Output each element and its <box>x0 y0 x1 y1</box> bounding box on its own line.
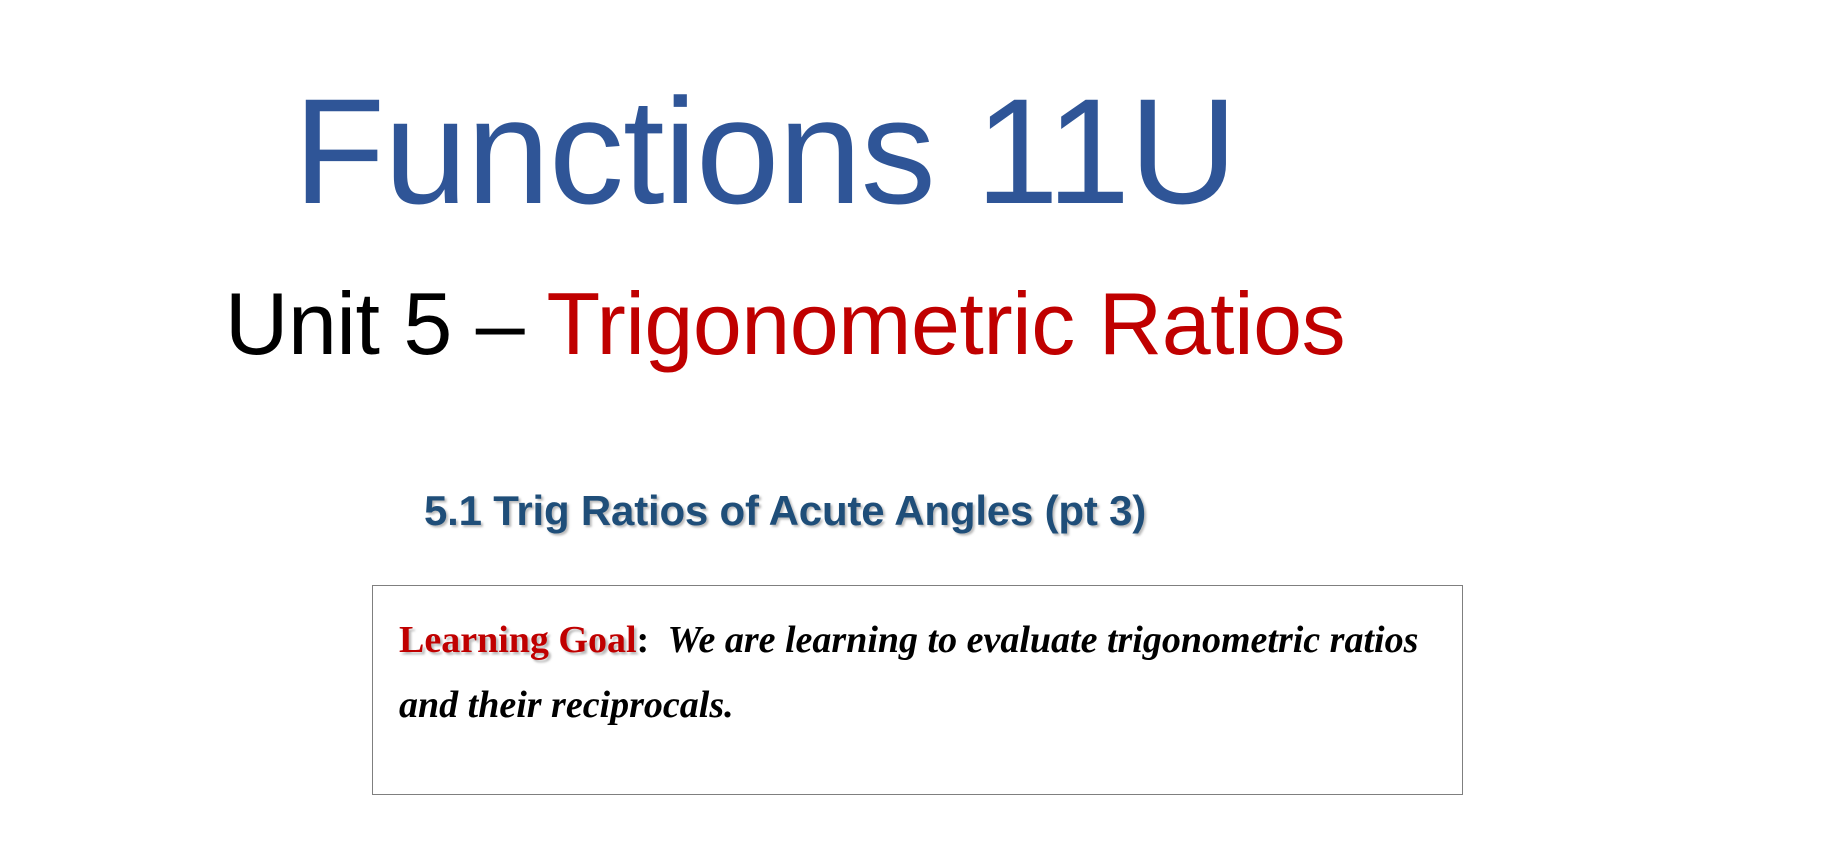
learning-goal-colon: : <box>637 619 650 661</box>
unit-heading-prefix: Unit 5 – <box>225 274 547 373</box>
learning-goal-box: Learning Goal: We are learning to evalua… <box>372 585 1463 795</box>
learning-goal-spacer <box>649 619 667 661</box>
page-title: Functions 11U <box>0 76 1530 226</box>
unit-heading: Unit 5 – Trigonometric Ratios <box>0 280 1570 368</box>
slide-canvas: Functions 11U Unit 5 – Trigonometric Rat… <box>0 0 1840 852</box>
learning-goal-label: Learning Goal <box>399 619 637 661</box>
unit-heading-topic: Trigonometric Ratios <box>547 274 1346 373</box>
learning-goal-paragraph: Learning Goal: We are learning to evalua… <box>399 608 1436 739</box>
lesson-subtitle: 5.1 Trig Ratios of Acute Angles (pt 3) <box>0 490 1570 532</box>
